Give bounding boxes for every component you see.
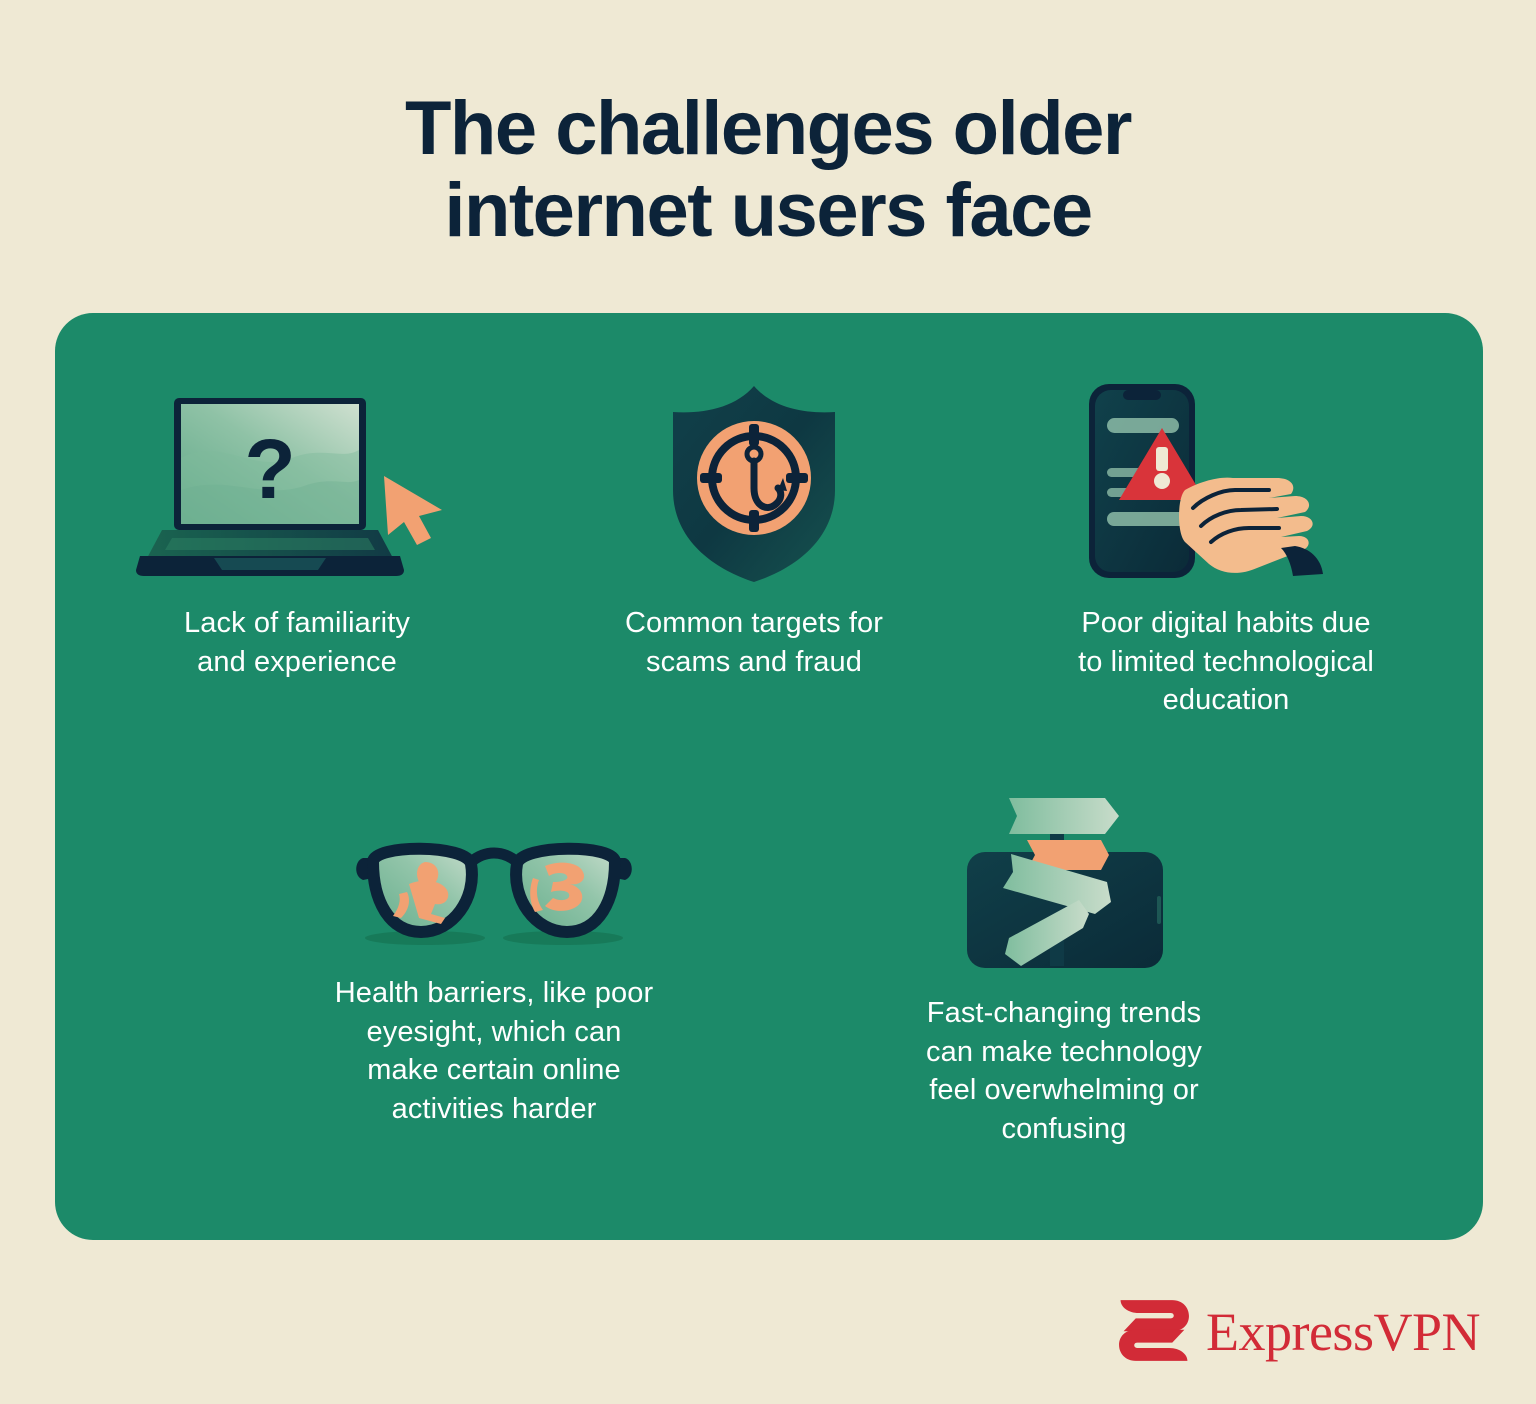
phone-warning-hand-tap-icon [1081, 373, 1371, 588]
shield-hook-svg [659, 378, 849, 588]
expressvpn-logo[interactable]: ExpressVPN [1116, 1294, 1480, 1370]
phone-warning-hand-svg [1081, 378, 1371, 588]
item-caption: Fast-changing trends can make technology… [926, 994, 1202, 1148]
content-card: ? Lack of familiarity and experience [55, 313, 1483, 1240]
item-caption: Poor digital habits due to limited techn… [1078, 604, 1374, 720]
expressvpn-mark-icon [1116, 1294, 1192, 1370]
item-caption: Lack of familiarity and experience [184, 604, 410, 681]
expressvpn-wordmark: ExpressVPN [1206, 1305, 1480, 1359]
shield-phishing-hook-target-icon [659, 373, 849, 588]
infographic-page: The challenges older internet users face [0, 0, 1536, 1404]
eyeglasses-svg [349, 818, 639, 958]
item-caption: Health barriers, like poor eyesight, whi… [335, 974, 654, 1128]
items-row-bottom: Health barriers, like poor eyesight, whi… [55, 768, 1483, 1148]
item-poor-digital-habits: Poor digital habits due to limited techn… [1011, 373, 1441, 720]
item-fast-changing-trends: Fast-changing trends can make technology… [869, 768, 1259, 1148]
item-caption: Common targets for scams and fraud [625, 604, 883, 681]
signpost-directions-phone-icon [949, 768, 1179, 978]
item-lack-of-familiarity: ? Lack of familiarity and experience [97, 373, 497, 720]
page-title: The challenges older internet users face [0, 88, 1536, 252]
item-health-barriers: Health barriers, like poor eyesight, whi… [279, 768, 709, 1148]
laptop-question-cursor-icon: ? [132, 373, 462, 588]
signpost-svg [949, 788, 1179, 978]
laptop-question-cursor-svg: ? [132, 388, 462, 588]
svg-text:?: ? [244, 422, 295, 516]
items-row-top: ? Lack of familiarity and experience [55, 373, 1483, 720]
item-scam-target: Common targets for scams and fraud [554, 373, 954, 720]
eyeglasses-blurry-vision-icon [349, 768, 639, 958]
